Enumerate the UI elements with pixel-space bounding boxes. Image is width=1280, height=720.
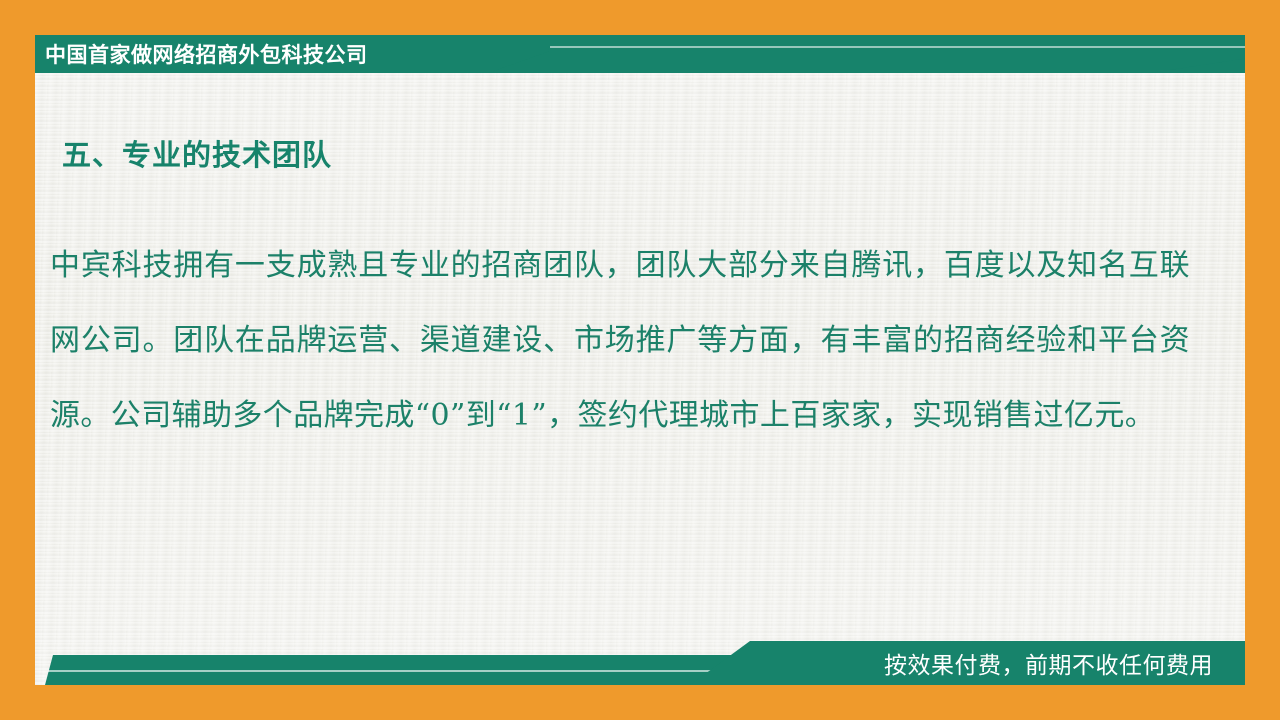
header-banner-text: 中国首家做网络招商外包科技公司 [35, 39, 368, 69]
header-title-plate: 中国首家做网络招商外包科技公司 [35, 35, 550, 73]
footer-hairline-divider [48, 670, 738, 672]
footer-tagline-text: 按效果付费，前期不收任何费用 [884, 646, 1245, 680]
header-hairline-divider [545, 46, 1245, 48]
body-paragraph: 中宾科技拥有一支成熟且专业的招商团队，团队大部分来自腾讯，百度以及知名互联网公司… [50, 228, 1190, 453]
section-heading: 五、专业的技术团队 [62, 132, 332, 174]
footer-tagline-plate: 按效果付费，前期不收任何费用 [690, 641, 1245, 685]
slide-canvas: 中国首家做网络招商外包科技公司 五、专业的技术团队 中宾科技拥有一支成熟且专业的… [0, 0, 1280, 720]
